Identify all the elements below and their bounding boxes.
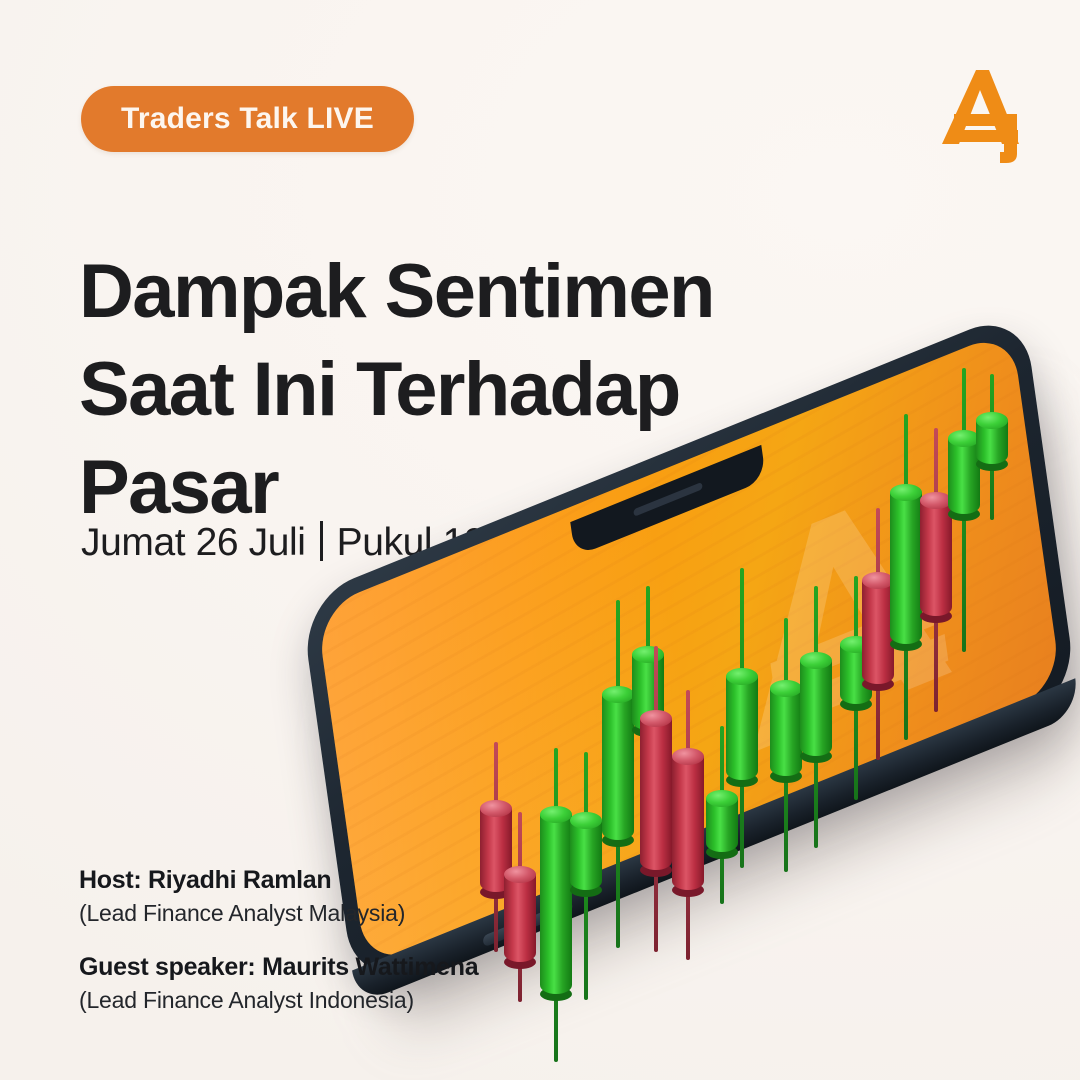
- credit-guest-name: Guest speaker: Maurits Wattimena: [79, 953, 549, 982]
- live-badge-label: Traders Talk LIVE: [121, 102, 374, 136]
- promo-poster: Traders Talk LIVE Dampak Sentimen Saat I…: [0, 0, 1080, 1080]
- headline-line-1: Dampak Sentimen: [79, 243, 839, 341]
- live-badge[interactable]: Traders Talk LIVE: [81, 86, 414, 152]
- credit-host-role: (Lead Finance Analyst Malaysia): [79, 900, 549, 927]
- schedule-date: Jumat 26 Juli: [81, 521, 306, 565]
- credits: Host: Riyadhi Ramlan (Lead Finance Analy…: [79, 866, 549, 1014]
- credit-host-name: Host: Riyadhi Ramlan: [79, 866, 549, 895]
- credit-guest: Guest speaker: Maurits Wattimena (Lead F…: [79, 953, 549, 1014]
- credit-guest-role: (Lead Finance Analyst Indonesia): [79, 987, 549, 1014]
- ascent-a-logo-icon: [930, 62, 1034, 166]
- schedule-divider: [320, 521, 323, 561]
- headline-line-2: Saat Ini Terhadap: [79, 341, 839, 439]
- credit-host: Host: Riyadhi Ramlan (Lead Finance Analy…: [79, 866, 549, 927]
